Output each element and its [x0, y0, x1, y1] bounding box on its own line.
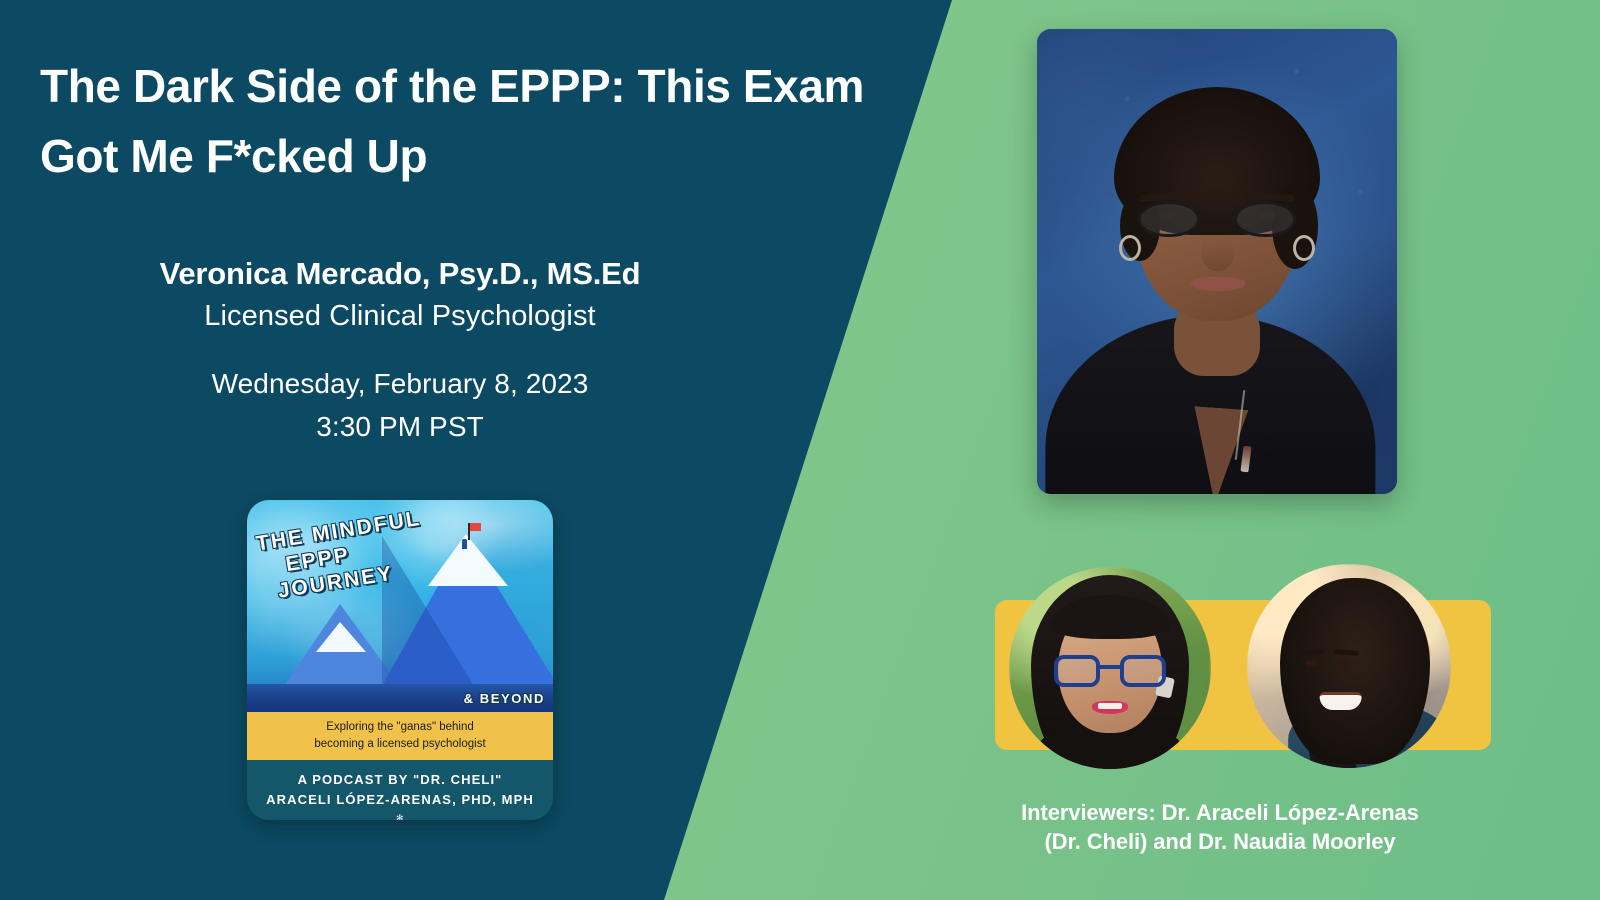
interviewers-caption: Interviewers: Dr. Araceli López-Arenas (…	[940, 798, 1500, 856]
podcast-brand-logo: ✻ Ganas & Go!	[372, 815, 428, 820]
event-datetime-block: Wednesday, February 8, 2023 3:30 PM PST	[0, 363, 800, 448]
speaker-role: Licensed Clinical Psychologist	[0, 296, 800, 337]
interviewer1-eyeglasses	[1054, 655, 1166, 687]
interviewer1-lens-right	[1120, 655, 1166, 687]
podcast-tagline-band: Exploring the "ganas" behind becoming a …	[247, 712, 553, 760]
podcast-beyond-tag: & BEYOND	[464, 691, 545, 706]
summit-flag-icon	[470, 523, 481, 531]
podcast-byline-footer: A PODCAST BY "DR. CHELI" ARACELI LÓPEZ-A…	[247, 760, 553, 820]
interviewer2-smile	[1320, 692, 1362, 710]
podcast-byline-line-2: ARACELI LÓPEZ-ARENAS, PHD, MPH	[266, 790, 534, 810]
podcast-tagline-line-2: becoming a licensed psychologist	[314, 736, 485, 753]
interviewer-photo-naudia-moorley	[1247, 564, 1451, 768]
eyeglass-lens-right	[1234, 201, 1296, 237]
interviewers-caption-line-2: (Dr. Cheli) and Dr. Naudia Moorley	[940, 827, 1500, 856]
speaker-portrait-photo	[1037, 29, 1397, 494]
interviewer1-teeth	[1098, 703, 1122, 709]
podcast-tagline-line-1: Exploring the "ganas" behind	[326, 719, 474, 736]
webinar-promo-poster: The Dark Side of the EPPP: This Exam Got…	[0, 0, 1600, 900]
podcast-cover-art: THE MINDFUL EPPP JOURNEY & BEYOND Explor…	[247, 500, 553, 820]
portrait-hoop-earring-right	[1293, 235, 1315, 261]
brand-sparkle-icon: ✻	[372, 815, 428, 820]
interviewer-photo-araceli-lopez-arenas	[1009, 567, 1211, 769]
interviewers-caption-line-1: Interviewers: Dr. Araceli López-Arenas	[940, 798, 1500, 827]
portrait-mouth	[1191, 277, 1245, 291]
interviewer2-eye-left	[1305, 660, 1318, 667]
podcast-byline-line-1: A PODCAST BY "DR. CHELI"	[298, 770, 503, 790]
interviewer1-lens-left	[1054, 655, 1100, 687]
portrait-hoop-earring-left	[1119, 235, 1141, 261]
eyeglass-lens-left	[1138, 201, 1200, 237]
speaker-block: Veronica Mercado, Psy.D., MS.Ed Licensed…	[0, 253, 800, 337]
small-mountain-snowcap	[316, 622, 366, 652]
event-date: Wednesday, February 8, 2023	[0, 363, 800, 406]
interviewer2-hair	[1280, 578, 1430, 764]
podcast-artwork-illustration: THE MINDFUL EPPP JOURNEY & BEYOND	[247, 500, 553, 712]
portrait-eyeglasses	[1138, 201, 1296, 237]
speaker-name: Veronica Mercado, Psy.D., MS.Ed	[0, 253, 800, 296]
portrait-nose	[1202, 241, 1234, 271]
page-title: The Dark Side of the EPPP: This Exam Got…	[40, 52, 870, 192]
event-time: 3:30 PM PST	[0, 406, 800, 449]
eyeglass-bridge	[1200, 213, 1234, 216]
interviewer2-eye-right	[1337, 660, 1350, 667]
interviewer1-bridge	[1100, 665, 1120, 669]
